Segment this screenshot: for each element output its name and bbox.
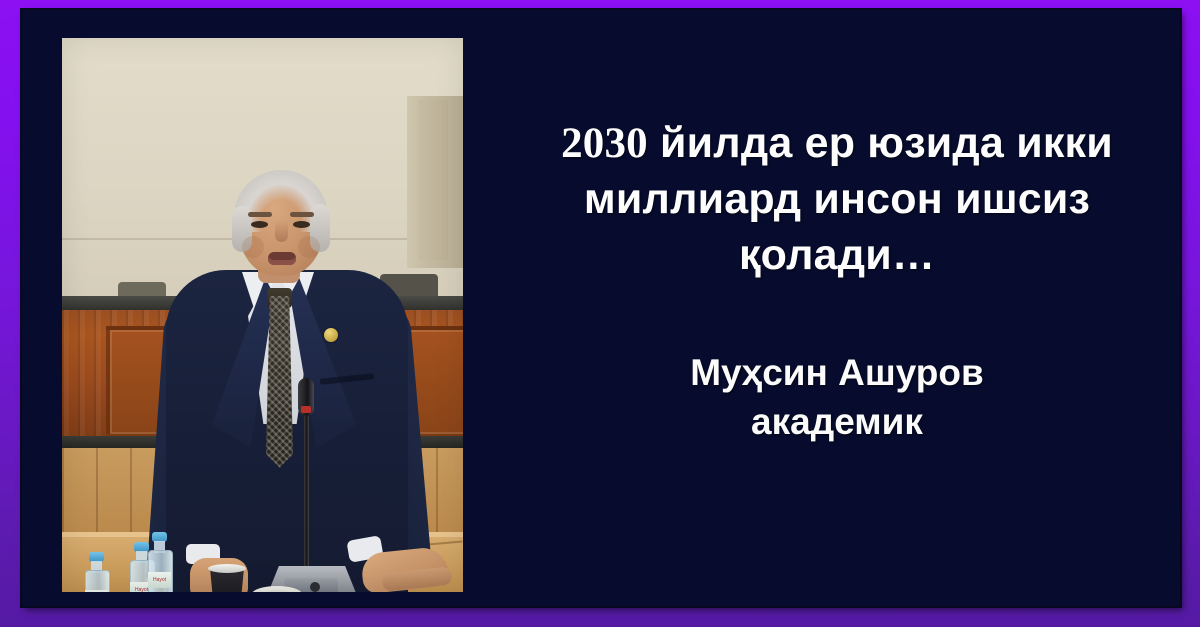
speaker-name: Муҳсин Ашуров: [690, 348, 984, 398]
photo-vignette: [62, 38, 463, 592]
content-card: Hayot Hayot Hayot 2030 йилда ер юзида ик…: [22, 10, 1180, 606]
headline-rest: йилда ер юзида икки миллиард инсон ишсиз…: [584, 119, 1113, 279]
attribution-block: Муҳсин Ашуров академик: [690, 348, 984, 447]
text-column: 2030 йилда ер юзида икки миллиард инсон …: [492, 38, 1182, 592]
headline-quote: 2030 йилда ер юзида икки миллиард инсон …: [507, 116, 1167, 284]
quote-slide: Hayot Hayot Hayot 2030 йилда ер юзида ик…: [0, 0, 1200, 627]
headline-year: 2030: [561, 120, 648, 167]
speaker-role: академик: [690, 397, 984, 447]
speaker-photo: Hayot Hayot Hayot: [62, 38, 463, 592]
